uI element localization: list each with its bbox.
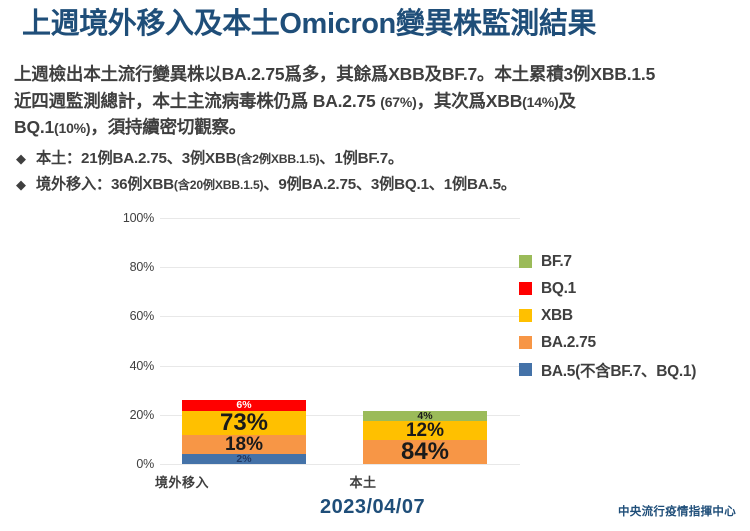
bar-segment-value-label: 18% (225, 435, 263, 454)
bar-column-local[interactable]: 84%12%4% (363, 411, 487, 465)
legend-label: BA.5(不含BF.7、BQ.1) (541, 359, 696, 381)
bar-segment-0-BA.5BF.7BQ.1[interactable]: 2% (182, 454, 306, 465)
y-axis-tick-20pct: 20% (100, 408, 154, 422)
summary-line-3-c: ，須持續密切觀察。 (90, 117, 246, 137)
summary-line-3-a: BQ.1 (14, 117, 54, 137)
gridline-0pct (160, 464, 520, 465)
gridline-60pct (160, 316, 520, 317)
bar-segment-1-XBB[interactable]: 12% (363, 421, 487, 440)
bar-segment-value-label: 6% (236, 400, 251, 411)
date-stamp: 2023/04/07 (320, 496, 425, 519)
bar-segment-1-BF.7[interactable]: 4% (363, 411, 487, 422)
organization-footer: 中央流行疫情指揮中心 (618, 503, 736, 519)
bullet-1-part-2: 、9例BA.2.75、3例BQ.1、1例BA.5。 (263, 176, 515, 193)
chart-legend: BF.7BQ.1XBBBA.2.75BA.5(不含BF.7、BQ.1) (519, 248, 747, 383)
legend-swatch-icon (519, 336, 532, 349)
page-title: 上週境外移入及本土Omicron變異株監測結果 (22, 6, 732, 43)
summary-line-2-a: 近四週監測總計，本土主流病毒株仍爲 BA.2.75 (14, 91, 380, 111)
diamond-bullet-icon: ◆ (16, 151, 36, 167)
legend-swatch-icon (519, 363, 532, 376)
summary-line-2: 近四週監測總計，本土主流病毒株仍爲 BA.2.75 (67%)，其次爲XBB(1… (14, 88, 740, 115)
bullet-0-part-0: 本土：21例BA.2.75、3例XBB (36, 150, 236, 167)
legend-label: BA.2.75 (541, 334, 596, 352)
summary-line-2-b: (67%) (380, 94, 416, 110)
bullet-item-local: ◆本土：21例BA.2.75、3例XBB(含2例XBB.1.5)、1例BF.7。 (16, 146, 403, 168)
bar-segment-value-label: 73% (220, 411, 268, 435)
bar-segment-0-BQ.1[interactable]: 6% (182, 400, 306, 411)
summary-line-3-b: (10%) (54, 120, 90, 136)
bullet-text-imported: 境外移入：36例XBB(含20例XBB.1.5)、9例BA.2.75、3例BQ.… (36, 176, 516, 193)
y-axis: 0%20%40%60%80%100% (96, 218, 154, 464)
bar-segment-value-label: 84% (401, 440, 449, 464)
summary-line-1-text: 上週檢出本土流行變異株以BA.2.75爲多，其餘爲XBB及BF.7。本土累積3例… (14, 64, 655, 84)
y-axis-tick-100pct: 100% (100, 211, 154, 225)
bullet-0-part-1: (含2例XBB.1.5) (236, 152, 319, 166)
bullet-1-part-1: (含20例XBB.1.5) (174, 178, 264, 192)
plot-area: 2%18%73%6% 84%12%4% (160, 218, 520, 464)
legend-swatch-icon (519, 255, 532, 268)
x-axis-label-local: 本土 (283, 472, 443, 491)
legend-item-BQ.1[interactable]: BQ.1 (519, 275, 747, 302)
x-axis-label-imported: 境外移入 (102, 472, 262, 491)
bar-column-imported[interactable]: 2%18%73%6% (182, 400, 306, 464)
summary-paragraph: 上週檢出本土流行變異株以BA.2.75爲多，其餘爲XBB及BF.7。本土累積3例… (14, 61, 740, 141)
bullet-item-imported: ◆境外移入：36例XBB(含20例XBB.1.5)、9例BA.2.75、3例BQ… (16, 172, 516, 194)
summary-line-2-d: (14%) (522, 94, 558, 110)
summary-line-3: BQ.1(10%)，須持續密切觀察。 (14, 114, 740, 141)
legend-item-BF.7[interactable]: BF.7 (519, 248, 747, 275)
gridline-80pct (160, 267, 520, 268)
diamond-bullet-icon: ◆ (16, 177, 36, 193)
y-axis-tick-80pct: 80% (100, 260, 154, 274)
y-axis-tick-60pct: 60% (100, 309, 154, 323)
bar-segment-0-BA.2.75[interactable]: 18% (182, 435, 306, 454)
legend-swatch-icon (519, 282, 532, 295)
bar-segment-0-XBB[interactable]: 73% (182, 411, 306, 435)
gridline-40pct (160, 366, 520, 367)
bar-segment-value-label: 2% (236, 454, 251, 465)
legend-item-BA.5BF.7BQ.1[interactable]: BA.5(不含BF.7、BQ.1) (519, 356, 747, 383)
legend-item-BA.2.75[interactable]: BA.2.75 (519, 329, 747, 356)
summary-line-2-e: 及 (559, 91, 576, 111)
bar-segment-1-BA.2.75[interactable]: 84% (363, 440, 487, 464)
bullet-text-local: 本土：21例BA.2.75、3例XBB(含2例XBB.1.5)、1例BF.7。 (36, 150, 403, 167)
legend-label: XBB (541, 307, 573, 325)
y-axis-tick-40pct: 40% (100, 359, 154, 373)
y-axis-tick-0pct: 0% (100, 457, 154, 471)
legend-label: BF.7 (541, 253, 572, 271)
legend-swatch-icon (519, 309, 532, 322)
bullet-1-part-0: 境外移入：36例XBB (36, 176, 174, 193)
gridline-100pct (160, 218, 520, 219)
legend-label: BQ.1 (541, 280, 576, 298)
summary-line-2-c: ，其次爲XBB (417, 91, 523, 111)
bar-segment-value-label: 4% (417, 411, 432, 422)
bullet-0-part-2: 、1例BF.7。 (319, 150, 403, 167)
summary-line-1: 上週檢出本土流行變異株以BA.2.75爲多，其餘爲XBB及BF.7。本土累積3例… (14, 61, 740, 88)
bar-segment-value-label: 12% (406, 421, 444, 440)
legend-item-XBB[interactable]: XBB (519, 302, 747, 329)
